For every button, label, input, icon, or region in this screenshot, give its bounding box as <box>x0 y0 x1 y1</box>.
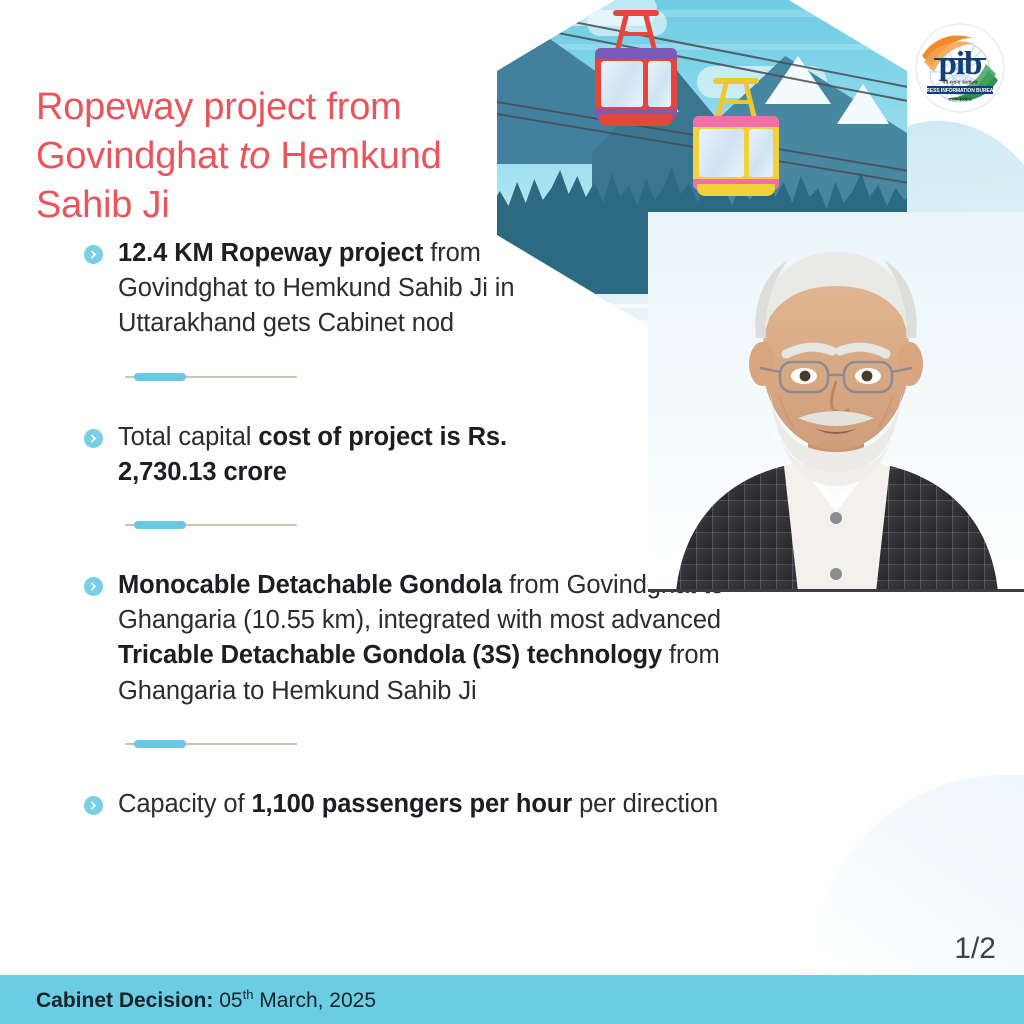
list-item-text: Monocable Detachable Gondola from Govind… <box>118 568 738 709</box>
list-item-segment: Capacity of <box>118 790 251 818</box>
title-line-2-italic: to <box>239 135 270 177</box>
list-item-text: 12.4 KM Ropeway project from Govindghat … <box>118 236 538 342</box>
cabinet-decision-date-prefix: 05 <box>213 989 242 1012</box>
svg-text:pib: pib <box>939 46 983 82</box>
title-line-1: Ropeway project from <box>36 86 402 128</box>
title-line-2b: Hemkund <box>270 135 442 177</box>
list-item-segment: Tricable Detachable Gondola (3S) technol… <box>118 641 662 669</box>
sky-band <box>497 10 907 17</box>
title-line-2a: Govindghat <box>36 135 239 177</box>
title-line-3: Sahib Ji <box>36 184 170 226</box>
list-item-segment: per direction <box>572 790 718 818</box>
svg-text:भारत सरकार: भारत सरकार <box>948 97 973 103</box>
portrait-baseline <box>648 589 1024 592</box>
section-divider <box>0 512 760 538</box>
bullet-list: 12.4 KM Ropeway project from Govindghat … <box>0 236 760 822</box>
cabinet-decision-date-ordinal: th <box>243 987 254 1002</box>
divider-accent <box>134 740 186 748</box>
list-item-segment: 1,100 passengers per hour <box>251 790 572 818</box>
divider-accent <box>134 373 186 381</box>
gondola-hanger <box>713 78 759 118</box>
chevron-right-circle-icon <box>84 577 103 596</box>
list-item-segment: 12.4 KM Ropeway project <box>118 239 423 267</box>
list-item-segment: Monocable Detachable Gondola <box>118 571 502 599</box>
infographic-canvas: pib पत्र सूचना कार्यालय PRESS INFORMATIO… <box>0 0 1024 1024</box>
page-indicator: 1/2 <box>954 932 996 966</box>
svg-text:पत्र सूचना कार्यालय: पत्र सूचना कार्यालय <box>942 79 977 86</box>
list-item: 12.4 KM Ropeway project from Govindghat … <box>0 236 760 342</box>
gondola-hanger <box>613 10 659 50</box>
list-item-segment: Total capital <box>118 423 258 451</box>
chevron-right-circle-icon <box>84 796 103 815</box>
cabinet-decision-text: Cabinet Decision: 05th March, 2025 <box>36 987 376 1013</box>
list-item-text: Capacity of 1,100 passengers per hour pe… <box>118 787 838 822</box>
cabinet-decision-label: Cabinet Decision: <box>36 989 213 1012</box>
section-divider <box>0 364 760 390</box>
chevron-right-circle-icon <box>84 429 103 448</box>
chevron-right-circle-icon <box>84 245 103 264</box>
list-item: Monocable Detachable Gondola from Govind… <box>0 568 760 709</box>
footer-bar: Cabinet Decision: 05th March, 2025 <box>0 975 1024 1024</box>
list-item: Total capital cost of project is Rs. 2,7… <box>0 420 760 490</box>
cabinet-decision-date-suffix: March, 2025 <box>253 989 376 1012</box>
svg-text:PRESS INFORMATION BUREAU: PRESS INFORMATION BUREAU <box>923 88 997 94</box>
gondola-cabin <box>693 116 779 190</box>
page-title: Ropeway project from Govindghat to Hemku… <box>36 83 506 229</box>
pib-logo: pib पत्र सूचना कार्यालय PRESS INFORMATIO… <box>914 22 1006 114</box>
list-item-text: Total capital cost of project is Rs. 2,7… <box>118 420 538 490</box>
prime-minister-portrait <box>648 212 1024 592</box>
gondola-cabin <box>595 48 677 120</box>
section-divider <box>0 731 760 757</box>
divider-accent <box>134 521 186 529</box>
list-item: Capacity of 1,100 passengers per hour pe… <box>0 787 760 822</box>
